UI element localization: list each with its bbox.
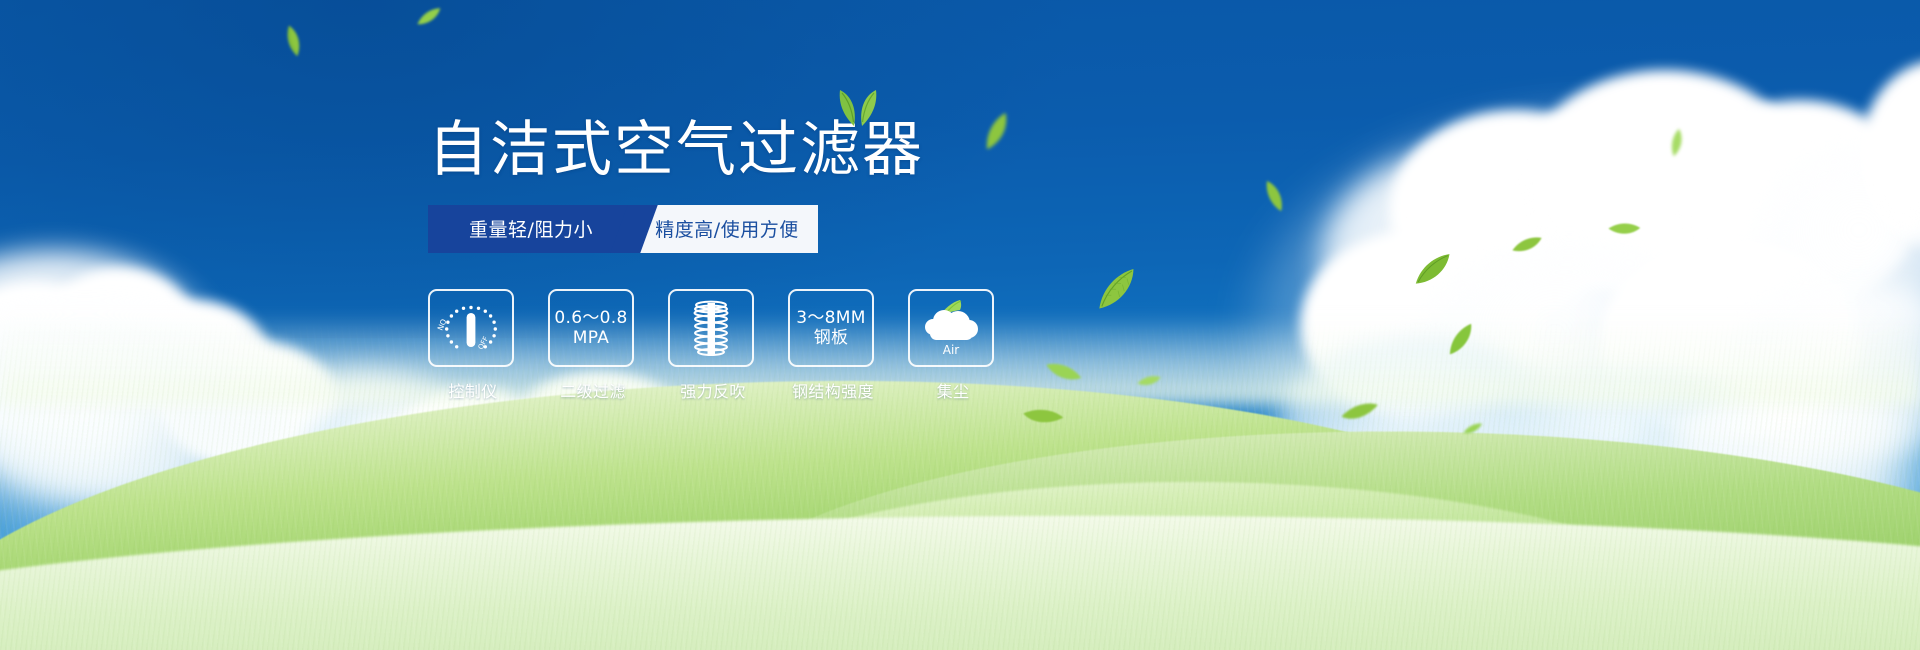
feature-label: 强力反吹: [668, 378, 758, 402]
feature-value-line2: MPA: [554, 328, 627, 348]
hero-content: 自洁式空气过滤器 重量轻/阻力小 精度高/使用方便: [428, 118, 1068, 402]
page-title: 自洁式空气过滤器: [428, 118, 1068, 183]
hero-banner: 自洁式空气过滤器 重量轻/阻力小 精度高/使用方便: [0, 0, 1920, 650]
title-block: 自洁式空气过滤器: [428, 118, 1068, 183]
feature-item-two-stage-filtration[interactable]: 0.6～0.8 MPA 二级过滤: [548, 289, 638, 402]
gauge-dial-icon: NO OFF: [436, 297, 506, 359]
feature-item-steel-strength[interactable]: 3～8MM 钢板 钢结构强度: [788, 289, 878, 402]
feature-label: 集尘: [908, 378, 998, 402]
feature-label: 控制仪: [428, 378, 518, 402]
feature-item-dust-collection[interactable]: Air 集尘: [908, 289, 998, 402]
tab-lightweight-lowresistance[interactable]: 重量轻/阻力小: [428, 205, 634, 253]
feature-value-line1: 3～8MM: [796, 308, 865, 328]
filter-cartridge-icon: [684, 297, 738, 359]
cloud-air-icon: Air: [916, 296, 986, 360]
feature-item-powerful-backwash[interactable]: 强力反吹: [668, 289, 758, 402]
feature-value-line1: 0.6～0.8: [554, 308, 627, 328]
feature-icon-row: NO OFF 控制仪 0.6～0.8 MPA 二级过滤: [428, 289, 1068, 402]
svg-text:OFF: OFF: [477, 335, 490, 351]
feature-label: 钢结构强度: [788, 378, 878, 402]
feature-label: 二级过滤: [548, 378, 638, 402]
feature-item-controller[interactable]: NO OFF 控制仪: [428, 289, 518, 402]
feature-box: 3～8MM 钢板: [788, 289, 874, 367]
feature-box: [668, 289, 754, 367]
feature-box: Air: [908, 289, 994, 367]
feature-box: 0.6～0.8 MPA: [548, 289, 634, 367]
cloud-air-label: Air: [943, 343, 960, 357]
sprout-leaves-icon: [828, 78, 884, 126]
feature-tabs[interactable]: 重量轻/阻力小 精度高/使用方便: [428, 205, 818, 253]
feature-box: NO OFF: [428, 289, 514, 367]
leaf-icon: [1606, 216, 1642, 242]
feature-value-line2: 钢板: [796, 328, 865, 348]
